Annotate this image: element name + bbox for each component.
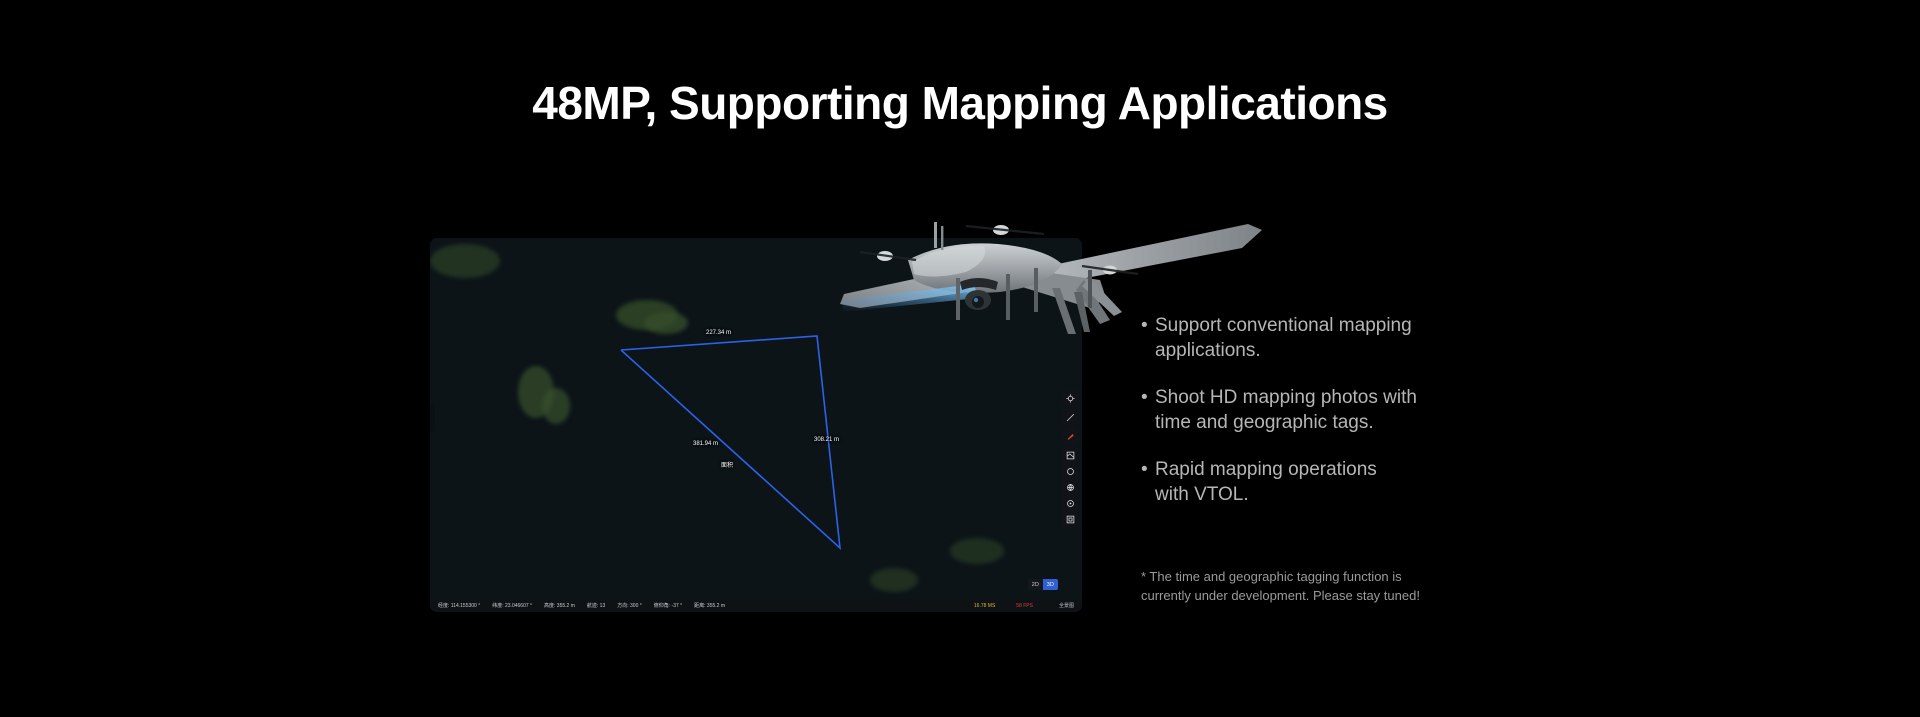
globe-icon[interactable] (1062, 479, 1078, 495)
measurement-polygon[interactable] (430, 238, 1082, 612)
area-polygon-icon[interactable] (1062, 447, 1078, 463)
status-distance: 距离: 355.2 m (694, 602, 725, 609)
circle-outline-icon[interactable] (1062, 463, 1078, 479)
status-bar: 经度: 114.155300 ° 纬度: 23.046607 ° 高度: 355… (430, 599, 1082, 612)
measure-label: 面积 (721, 460, 733, 469)
page-title: 48MP, Supporting Mapping Applications (0, 76, 1920, 131)
bullet-icon: • (1141, 457, 1155, 507)
dimension-toggle: 2D 3D (1028, 579, 1058, 590)
status-waypoint: 航迹: 13 (587, 602, 605, 609)
mapping-app-window[interactable]: 227.34 m 308.21 m 381.94 m 面积 (430, 238, 1082, 612)
measure-label: 308.21 m (814, 437, 839, 443)
pin-marker-icon[interactable] (1062, 428, 1078, 444)
list-item: • Support conventional mapping applicati… (1141, 313, 1561, 363)
toolbar-group-marker (1062, 428, 1078, 444)
status-heading: 方向: 300 ° (617, 602, 642, 609)
measure-label: 227.34 m (706, 330, 731, 336)
toolbar-group-primary (1062, 390, 1078, 406)
bullet-icon: • (1141, 385, 1155, 435)
list-item: • Shoot HD mapping photos with time and … (1141, 385, 1561, 435)
panel-collapse-handle[interactable] (430, 404, 435, 432)
measure-label: 381.94 m (693, 441, 718, 447)
feature-text: Support conventional mapping application… (1155, 313, 1412, 363)
status-altitude: 高度: 355.2 m (544, 602, 575, 609)
status-latency: 16.78 MS (974, 603, 995, 609)
measure-line-icon[interactable] (1062, 409, 1078, 425)
list-item: • Rapid mapping operations with VTOL. (1141, 457, 1561, 507)
status-latitude: 纬度: 23.046607 ° (492, 602, 532, 609)
bullet-icon: • (1141, 313, 1155, 363)
status-view-mode: 全景图 (1059, 602, 1074, 609)
toolbar-group-layers (1062, 447, 1078, 527)
footnote-disclaimer: * The time and geographic tagging functi… (1141, 568, 1541, 605)
status-longitude: 经度: 114.155300 ° (438, 602, 480, 609)
status-fps: 58 FPS (1016, 603, 1033, 609)
frame-fit-icon[interactable] (1062, 511, 1078, 527)
toolbar-group-measure (1062, 409, 1078, 425)
dimension-option-3d[interactable]: 3D (1043, 579, 1058, 590)
feature-text: Rapid mapping operations with VTOL. (1155, 457, 1377, 507)
dimension-option-2d[interactable]: 2D (1028, 579, 1043, 590)
crosshair-target-icon[interactable] (1062, 390, 1078, 406)
map-toolbar (1062, 390, 1078, 527)
feature-list: • Support conventional mapping applicati… (1141, 313, 1561, 529)
status-pitch: 俯仰角: -37 ° (654, 602, 682, 609)
feature-text: Shoot HD mapping photos with time and ge… (1155, 385, 1417, 435)
locate-icon[interactable] (1062, 495, 1078, 511)
